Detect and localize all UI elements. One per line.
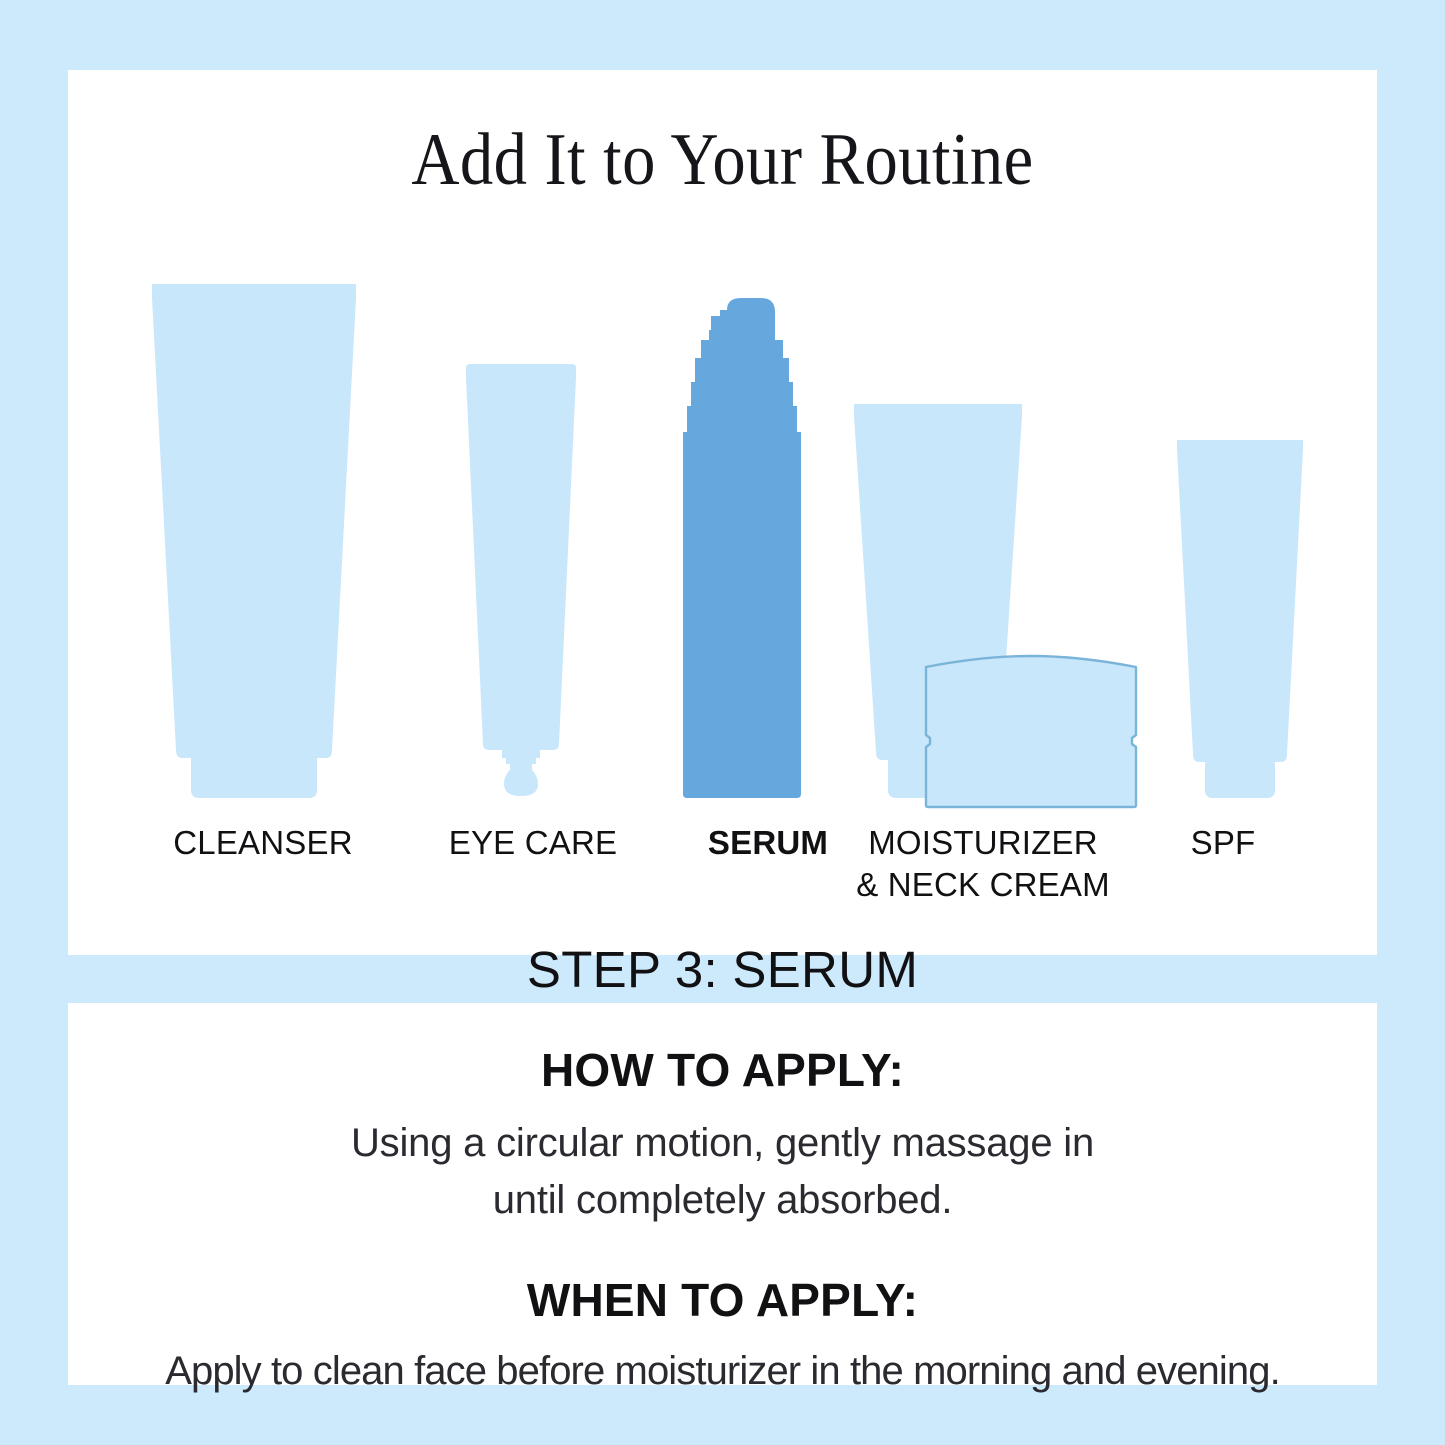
- infographic-page: Add It to Your Routine: [0, 0, 1445, 1445]
- product-neck-cream-jar-icon: [923, 650, 1139, 810]
- how-to-apply-heading: HOW TO APPLY:: [68, 1043, 1377, 1097]
- how-to-apply-body-line1: Using a circular motion, gently massage …: [351, 1121, 1094, 1165]
- product-label-moisturizer-line2: & NECK CREAM: [856, 866, 1110, 903]
- apply-instructions-panel: HOW TO APPLY: Using a circular motion, g…: [68, 1003, 1377, 1385]
- product-labels: CLEANSER EYE CARE SERUM MOISTURIZER & NE…: [68, 822, 1377, 922]
- how-to-apply-body: Using a circular motion, gently massage …: [68, 1115, 1377, 1229]
- product-lineup: [68, 210, 1377, 810]
- how-to-apply-body-line2: until completely absorbed.: [493, 1178, 953, 1222]
- apply-content: HOW TO APPLY: Using a circular motion, g…: [68, 1003, 1377, 1399]
- routine-panel: Add It to Your Routine: [68, 70, 1377, 955]
- step-heading: STEP 3: SERUM: [68, 940, 1377, 999]
- product-serum-icon: [675, 296, 809, 800]
- page-title: Add It to Your Routine: [133, 118, 1311, 203]
- when-to-apply-heading: WHEN TO APPLY:: [68, 1273, 1377, 1327]
- product-eye-care-icon: [456, 362, 586, 800]
- product-label-moisturizer-line1: MOISTURIZER: [868, 824, 1098, 861]
- product-spf-icon: [1173, 436, 1307, 800]
- product-label-moisturizer: MOISTURIZER & NECK CREAM: [818, 822, 1148, 906]
- product-label-spf: SPF: [1108, 822, 1338, 864]
- when-to-apply-body: Apply to clean face before moisturizer i…: [68, 1343, 1377, 1400]
- product-cleanser-icon: [146, 280, 362, 800]
